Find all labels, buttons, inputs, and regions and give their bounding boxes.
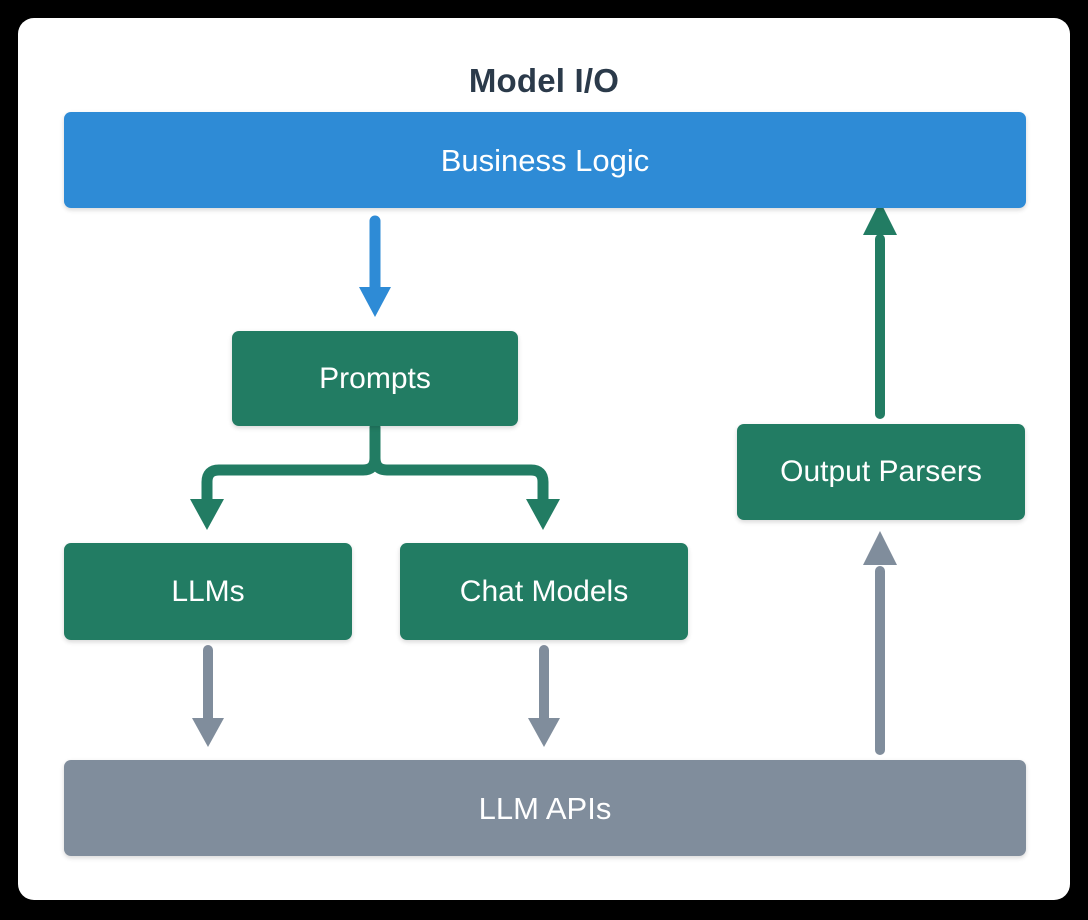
node-chat-models[interactable]: Chat Models: [400, 543, 688, 640]
node-llm-apis[interactable]: LLM APIs: [64, 760, 1026, 856]
node-output-parsers[interactable]: Output Parsers: [737, 424, 1025, 520]
edge-llms-to-llm-apis: [192, 650, 224, 747]
edge-prompts-fork: [190, 428, 560, 530]
edge-output-parsers-to-business-logic: [863, 201, 897, 414]
fork-left-path: [207, 428, 375, 507]
arrowhead-down-llms: [190, 499, 224, 530]
fork-right-path: [375, 428, 543, 507]
edge-chat-models-to-llm-apis: [528, 650, 560, 747]
edge-business-logic-to-prompts: [359, 221, 391, 317]
diagram-title: Model I/O: [18, 62, 1070, 100]
node-business-logic[interactable]: Business Logic: [64, 112, 1026, 208]
diagram-panel: Model I/O: [18, 18, 1070, 900]
edge-llm-apis-to-output-parsers: [863, 531, 897, 750]
arrowhead-up: [863, 531, 897, 565]
arrowhead-down: [359, 287, 391, 317]
arrowhead-down: [528, 718, 560, 747]
node-llms[interactable]: LLMs: [64, 543, 352, 640]
node-prompts[interactable]: Prompts: [232, 331, 518, 426]
arrowhead-down: [192, 718, 224, 747]
arrowhead-down-chat-models: [526, 499, 560, 530]
diagram-root: Model I/O: [0, 0, 1088, 920]
